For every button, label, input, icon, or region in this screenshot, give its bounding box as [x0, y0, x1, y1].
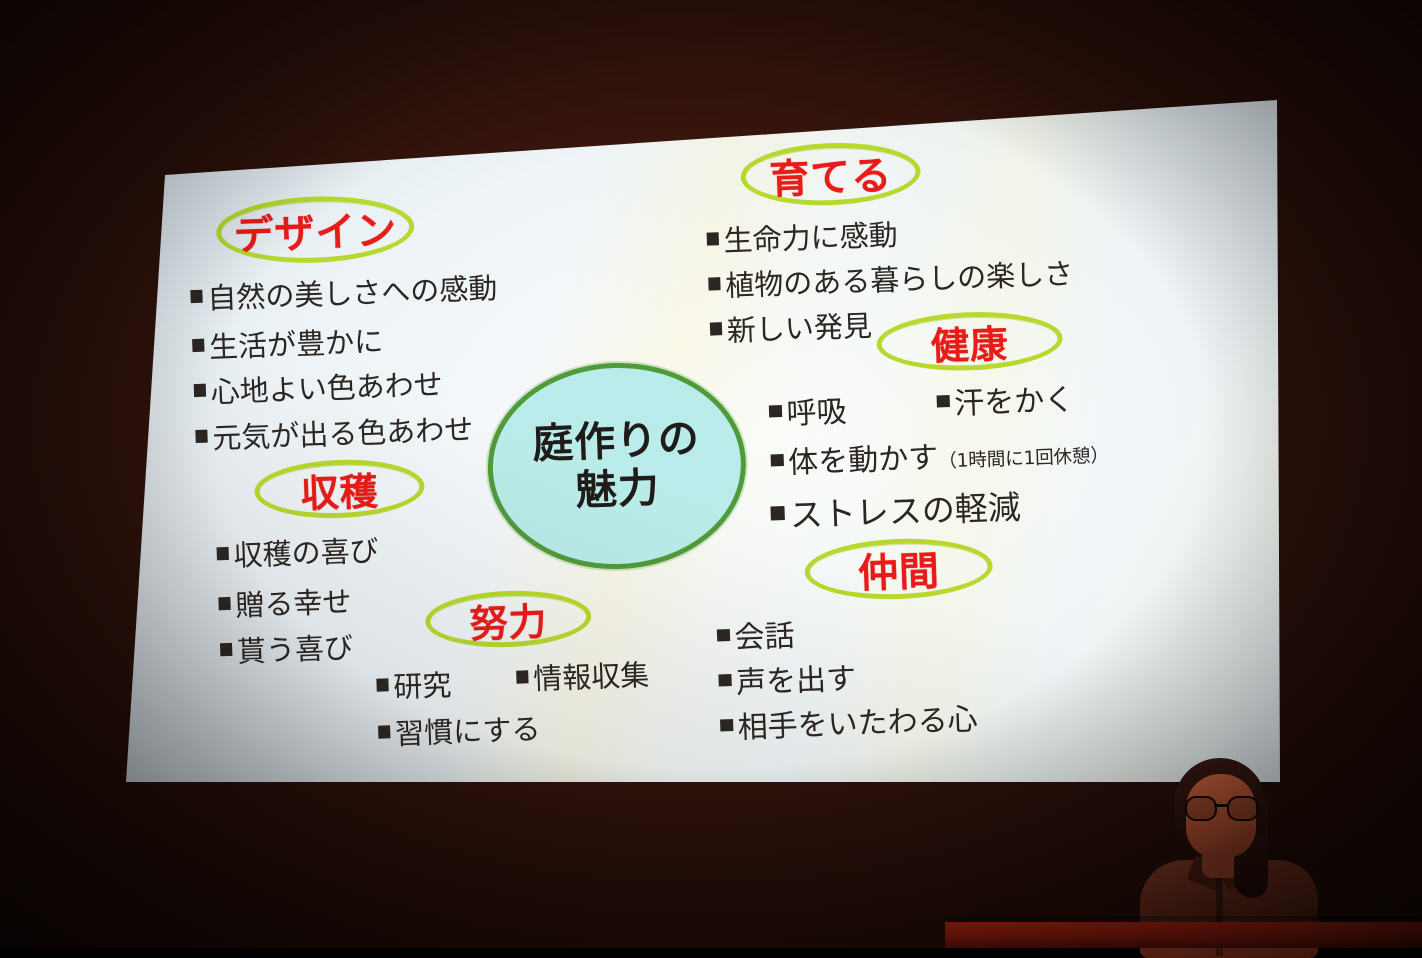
list-item: 研究: [376, 662, 452, 707]
list-item: 貰う喜び: [219, 625, 353, 672]
list-item: 贈る幸せ: [218, 579, 352, 626]
center-line-1: 庭作りの: [532, 415, 701, 469]
list-item: 新しい発見: [709, 303, 872, 351]
group-heading-effort: 努力: [424, 588, 592, 650]
list-item: 汗をかく: [936, 375, 1075, 424]
health-annotation: （1時間に1回休憩）: [938, 445, 1109, 472]
list-item: 呼吸: [768, 387, 847, 434]
bullet-icon: [220, 643, 233, 656]
list-item: 収穫の喜び: [216, 528, 379, 576]
group-heading-health: 健康: [876, 309, 1064, 374]
list-item: 植物のある暮らしの楽しさ: [708, 251, 1074, 306]
bullet-icon: [769, 405, 782, 418]
group-heading-health-label: 健康: [930, 312, 1009, 370]
glasses-bridge: [1214, 804, 1227, 807]
group-heading-design: デザイン: [215, 193, 415, 266]
bullet-icon: [708, 278, 721, 291]
group-heading-grow: 育てる: [740, 140, 922, 208]
list-item: 生活が豊かに: [192, 318, 384, 367]
group-heading-fellows-label: 仲間: [857, 539, 941, 600]
bullet-icon: [192, 339, 205, 352]
glasses-lens-left: [1185, 796, 1217, 821]
group-heading-effort-label: 努力: [469, 590, 548, 648]
center-node-garden-appeal: 庭作りの 魅力: [484, 358, 749, 573]
bullet-icon: [710, 323, 723, 336]
bullet-icon: [378, 726, 391, 739]
list-item: 元気が出る色あわせ: [195, 406, 474, 458]
bullet-icon: [194, 384, 207, 397]
bullet-icon: [718, 674, 731, 687]
bullet-icon: [195, 430, 208, 443]
bullet-icon: [720, 719, 733, 732]
glasses-icon: [1183, 796, 1261, 818]
list-item: ストレスの軽減: [770, 481, 1022, 538]
bullet-icon: [771, 454, 784, 467]
group-heading-design-label: デザイン: [233, 198, 398, 262]
bullet-icon: [717, 629, 730, 642]
center-line-2: 魅力: [575, 464, 660, 515]
list-item: 情報収集: [516, 652, 650, 699]
list-item: 会話: [716, 611, 795, 658]
group-heading-grow-label: 育てる: [768, 143, 892, 205]
bullet-icon: [516, 671, 529, 684]
group-heading-harvest: 収穫: [254, 457, 426, 521]
bullet-icon: [707, 233, 720, 246]
bullet-icon: [770, 506, 784, 520]
group-heading-fellows: 仲間: [804, 536, 994, 603]
podium-table: [945, 922, 1422, 948]
list-item: 声を出す: [718, 654, 857, 703]
list-item: 体を動かす（1時間に1回休憩）: [770, 426, 1109, 482]
list-item: 習慣にする: [378, 706, 541, 754]
list-item: 心地よい色あわせ: [193, 361, 443, 412]
bullet-icon: [217, 547, 230, 560]
glasses-lens-right: [1227, 796, 1259, 821]
group-heading-harvest-label: 収穫: [300, 460, 379, 518]
bullet-icon: [937, 395, 950, 408]
bullet-icon: [218, 597, 231, 610]
list-item: 相手をいたわる心: [719, 694, 978, 747]
bullet-icon: [376, 679, 389, 692]
list-item: 自然の美しさへの感動: [190, 265, 498, 318]
list-item: 生命力に感動: [706, 212, 898, 261]
bullet-icon: [190, 290, 203, 303]
